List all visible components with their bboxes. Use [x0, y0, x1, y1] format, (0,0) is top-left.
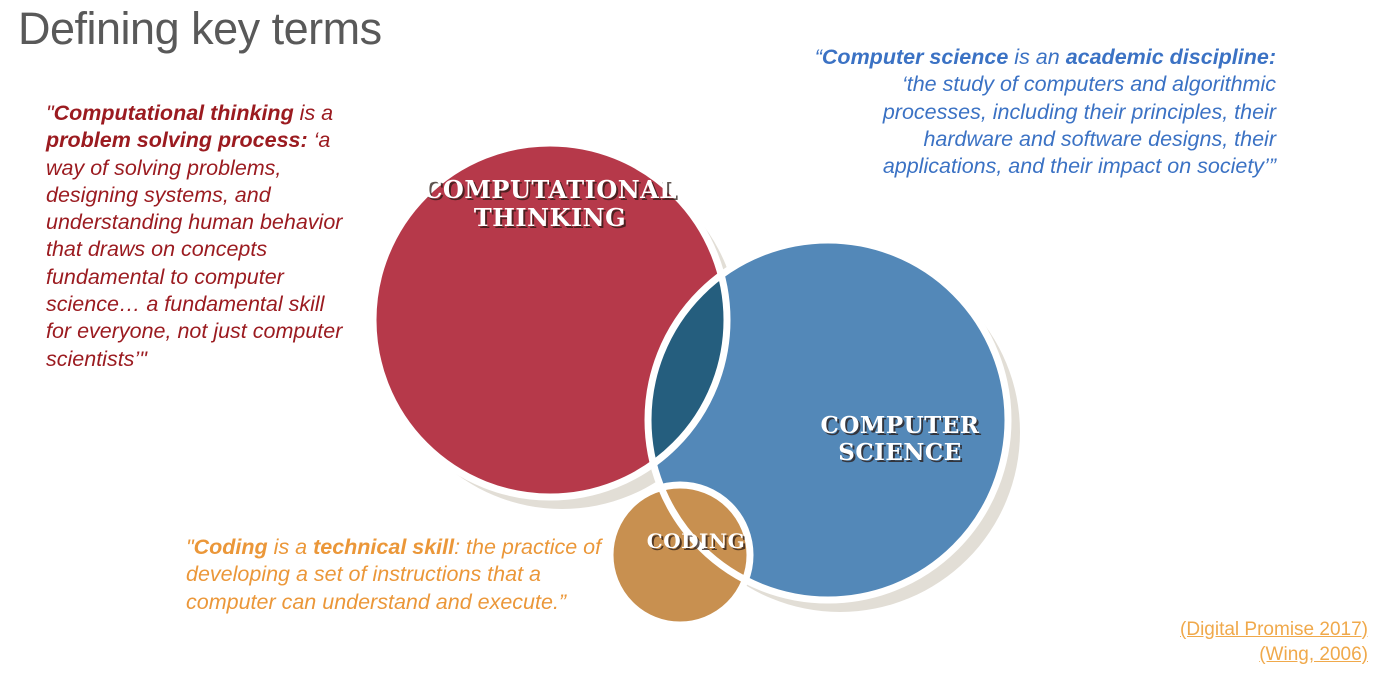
- quote-cs-body: ‘the study of computers and algorithmic …: [883, 72, 1276, 178]
- quote-cod-bold-def: technical skill: [313, 535, 454, 559]
- quote-cs-open: “: [815, 45, 822, 69]
- quote-coding: "Coding is a technical skill: the practi…: [186, 534, 606, 616]
- quote-ct-bold-def: problem solving process:: [46, 128, 308, 152]
- slide-canvas: Defining key terms: [0, 0, 1384, 676]
- quote-ct-bold-term: Computational thinking: [54, 101, 294, 125]
- citation-link-digital-promise[interactable]: (Digital Promise 2017): [1180, 617, 1368, 643]
- quote-cod-mid: is a: [268, 535, 313, 559]
- quote-computer-science: “Computer science is an academic discipl…: [806, 44, 1276, 180]
- page-title: Defining key terms: [18, 2, 382, 56]
- quote-ct-mid: is a: [294, 101, 333, 125]
- quote-cs-mid: is an: [1008, 45, 1065, 69]
- citation-link-wing[interactable]: (Wing, 2006): [1180, 642, 1368, 668]
- quote-ct-open: ": [46, 101, 54, 125]
- quote-cod-open: ": [186, 535, 194, 559]
- quote-cod-bold-term: Coding: [194, 535, 268, 559]
- citations: (Digital Promise 2017) (Wing, 2006): [1180, 617, 1368, 668]
- quote-cs-bold-def: academic discipline:: [1066, 45, 1276, 69]
- quote-computational-thinking: "Computational thinking is a problem sol…: [46, 100, 346, 373]
- quote-ct-body: ‘a way of solving problems, designing sy…: [46, 128, 342, 370]
- quote-cs-bold-term: Computer science: [822, 45, 1008, 69]
